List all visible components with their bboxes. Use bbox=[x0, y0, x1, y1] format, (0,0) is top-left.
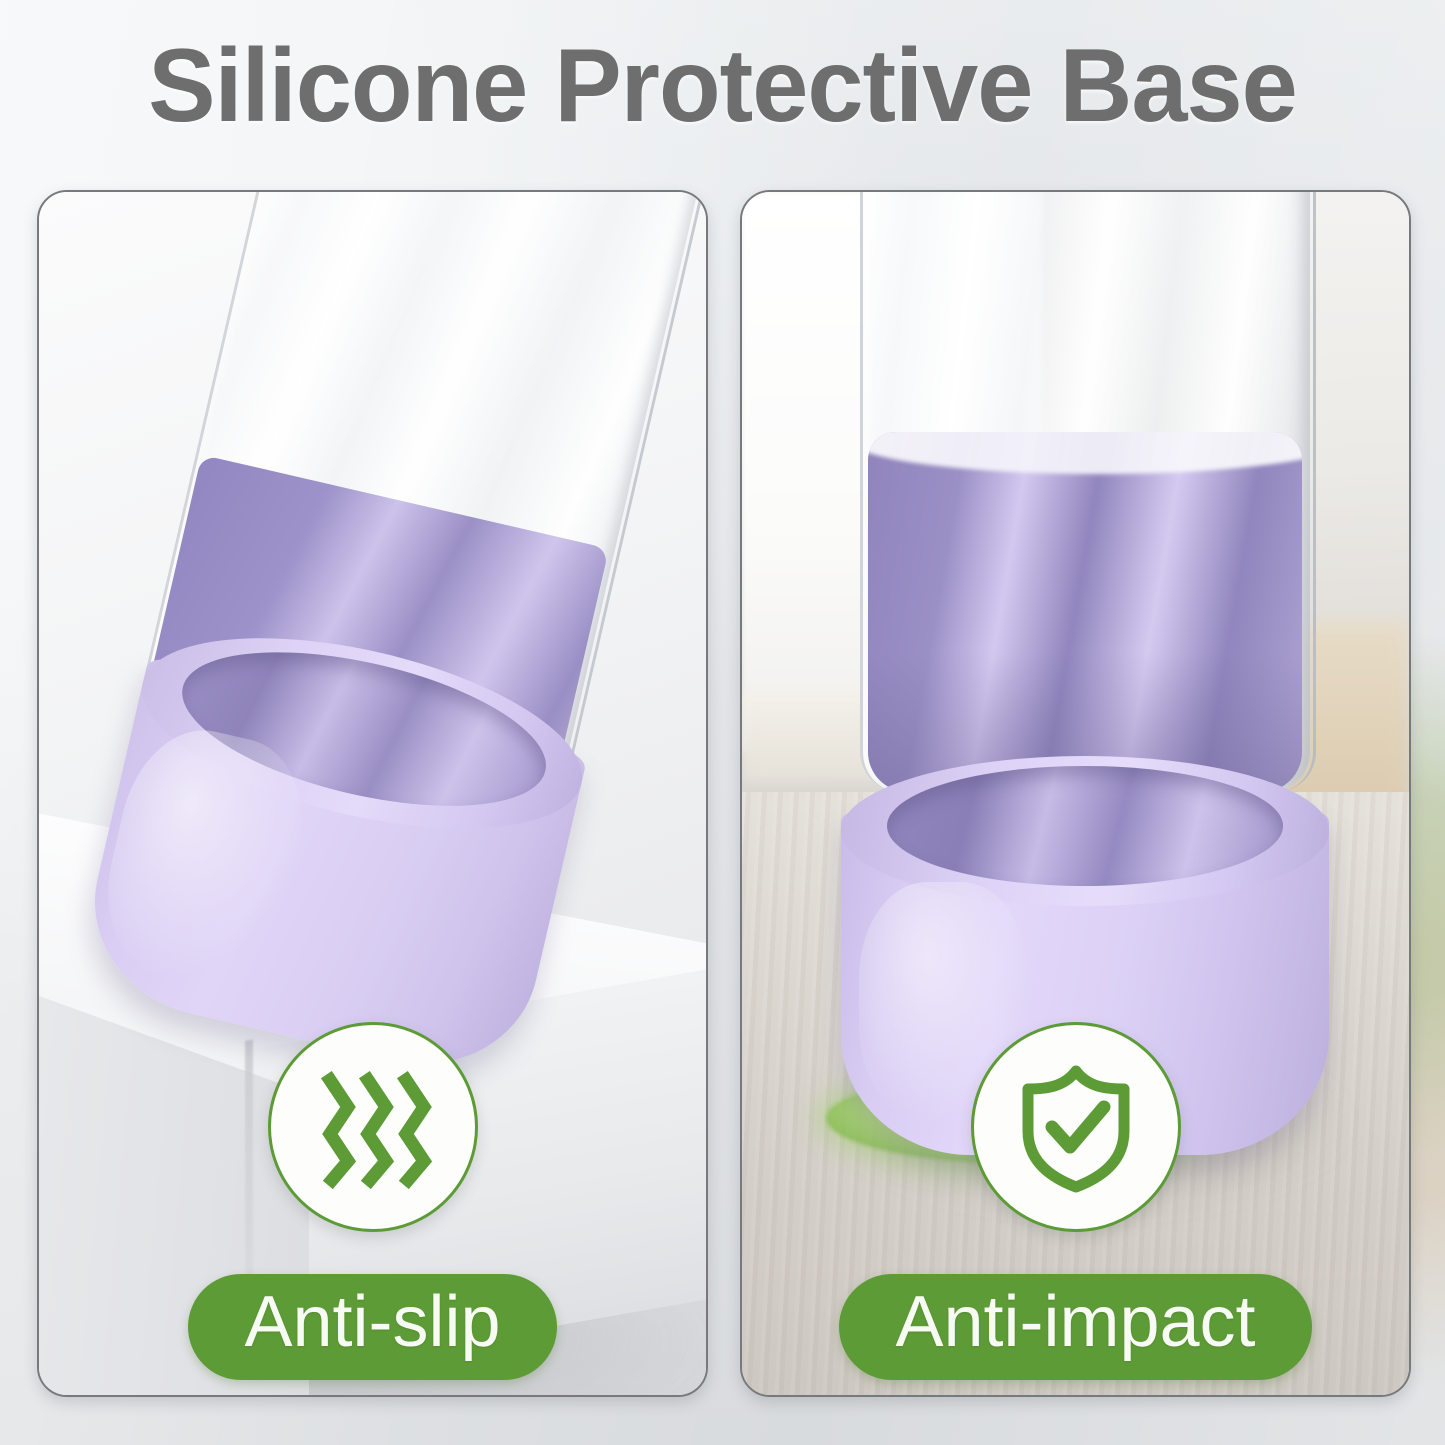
wavy-lines-icon bbox=[268, 1022, 478, 1232]
badge-anti-impact: Anti-impact bbox=[742, 1022, 1409, 1380]
scene-anti-impact: Anti-impact bbox=[742, 192, 1409, 1395]
silicone-boot-mouth bbox=[887, 766, 1283, 886]
panel-anti-impact: Anti-impact bbox=[740, 190, 1411, 1397]
page-title: Silicone Protective Base bbox=[22, 34, 1424, 138]
badge-label-anti-impact: Anti-impact bbox=[839, 1274, 1311, 1380]
badge-anti-slip: Anti-slip bbox=[39, 1022, 706, 1380]
scene-anti-slip: Anti-slip bbox=[39, 192, 706, 1395]
shield-check-icon bbox=[971, 1022, 1181, 1232]
interior-wave-highlight bbox=[868, 432, 1302, 474]
bottle-interior-purple bbox=[868, 432, 1302, 792]
badge-label-anti-slip: Anti-slip bbox=[188, 1274, 556, 1380]
product-infographic: Silicone Protective Base bbox=[0, 0, 1445, 1445]
panel-anti-slip: Anti-slip bbox=[37, 190, 708, 1397]
